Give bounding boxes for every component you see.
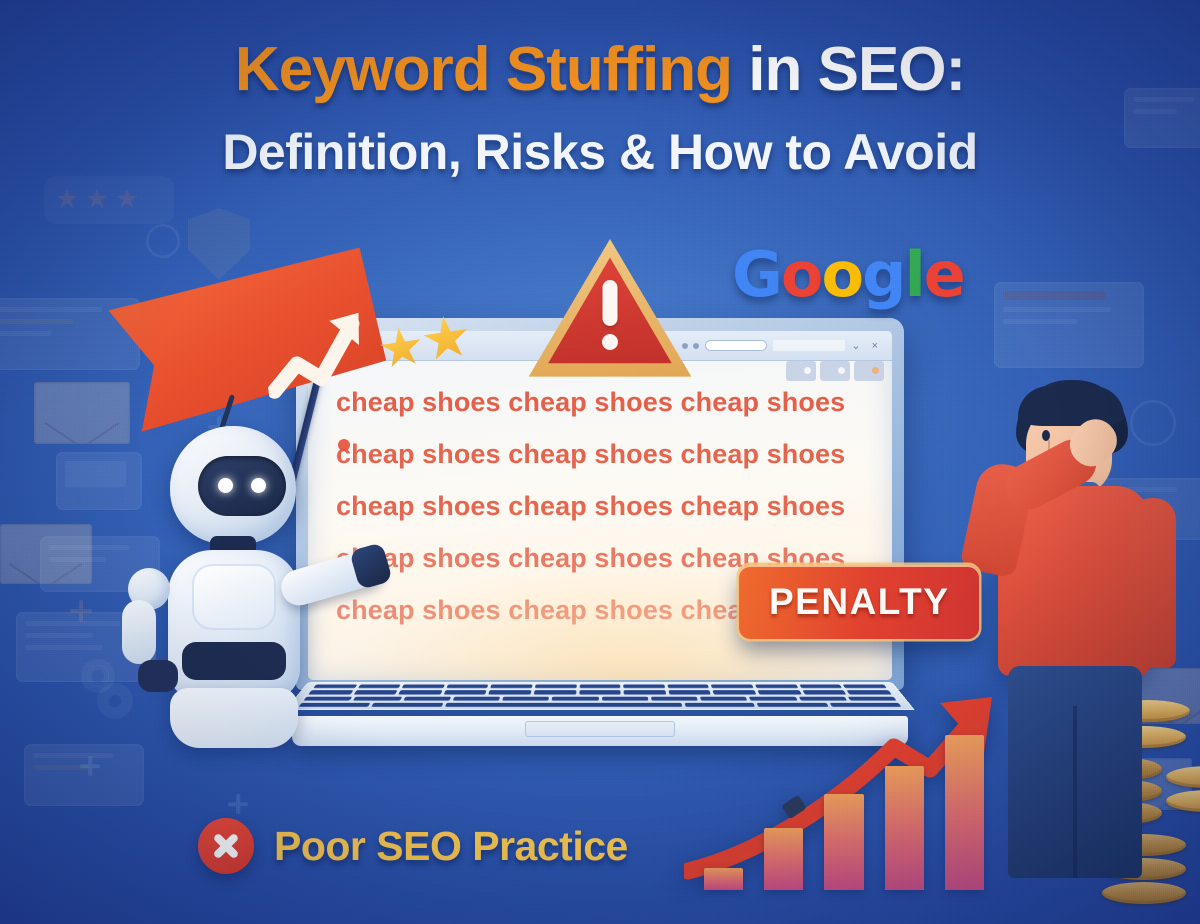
browser-tile xyxy=(820,361,850,381)
robot-upper-arm xyxy=(122,600,156,664)
poster-headline: Keyword Stuffing in SEO: Definition, Ris… xyxy=(0,38,1200,181)
google-letter-g1: G xyxy=(732,238,781,311)
growth-arrow-icon xyxy=(259,304,390,406)
subtitle: Definition, Risks & How to Avoid xyxy=(0,123,1200,181)
star-icon xyxy=(378,325,425,372)
robot-waist xyxy=(182,642,286,680)
window-controls[interactable]: ⌄ × xyxy=(851,339,882,352)
google-letter-g2: g xyxy=(862,238,904,311)
google-logo: Google xyxy=(732,238,964,311)
exclamation-bar xyxy=(603,280,618,326)
robot-hand xyxy=(138,660,178,692)
robot-left-arm xyxy=(120,568,180,686)
browser-dot xyxy=(693,343,699,349)
star-rating-icon xyxy=(56,188,138,210)
browser-url-bar[interactable] xyxy=(705,340,767,351)
robot-visor xyxy=(198,456,286,516)
penalty-badge: PENALTY xyxy=(739,565,979,639)
title-seo-part: SEO: xyxy=(818,35,966,104)
browser-tile xyxy=(854,361,884,381)
poor-seo-practice-banner: Poor SEO Practice xyxy=(198,818,628,874)
robot-hips xyxy=(170,688,298,748)
poor-seo-practice-label: Poor SEO Practice xyxy=(274,823,628,870)
google-letter-l: l xyxy=(905,238,924,311)
robot-right-arm xyxy=(262,552,382,612)
google-letter-o2: o xyxy=(822,238,863,311)
warning-triangle-icon xyxy=(527,236,693,384)
bar-group xyxy=(704,720,984,890)
google-letter-o1: o xyxy=(781,238,822,311)
main-title: Keyword Stuffing in SEO: xyxy=(0,38,1200,101)
confused-person-character xyxy=(960,378,1190,878)
browser-tile xyxy=(786,361,816,381)
x-circle-icon xyxy=(198,818,254,874)
title-keyword-part: Keyword Stuffing xyxy=(235,35,732,104)
robot-head xyxy=(170,426,296,544)
laptop-trackpad[interactable] xyxy=(525,721,675,737)
poster-canvas: Keyword Stuffing in SEO: Definition, Ris… xyxy=(0,0,1200,924)
robot-character xyxy=(112,400,360,800)
title-connector: in xyxy=(748,35,801,104)
person-fringe xyxy=(1018,386,1124,426)
chart-bar xyxy=(764,828,803,890)
person-right-arm xyxy=(1130,498,1176,668)
chart-bar xyxy=(824,794,863,890)
chart-bar xyxy=(885,766,924,890)
coin xyxy=(1102,882,1186,904)
chart-bar xyxy=(704,868,743,890)
person-trousers xyxy=(1008,666,1142,878)
progress-card-icon xyxy=(994,282,1144,368)
browser-search-field[interactable] xyxy=(773,340,845,351)
exclamation-dot xyxy=(602,334,618,350)
robot-eye xyxy=(251,478,266,493)
trouser-seam xyxy=(1073,706,1077,878)
google-letter-e: e xyxy=(924,238,964,311)
robot-eye xyxy=(218,478,233,493)
browser-tiles xyxy=(786,361,884,381)
